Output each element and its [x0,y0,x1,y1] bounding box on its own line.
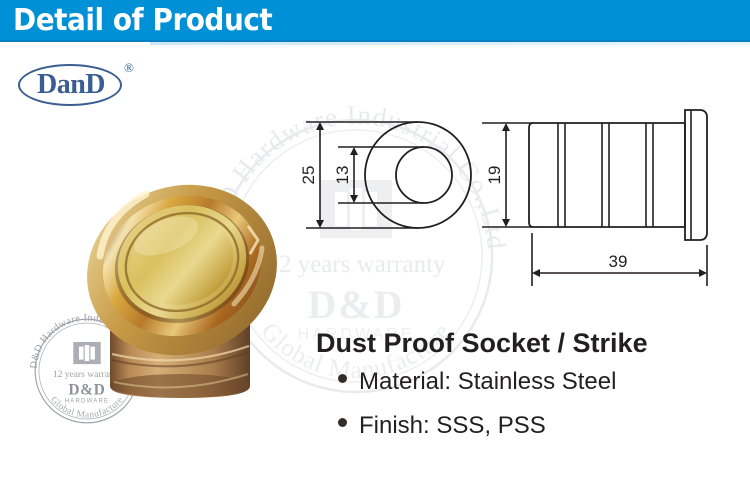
watermark-emblem-icon [320,180,392,238]
specification-list: Material: Stainless Steel Finish: SSS, P… [316,360,750,448]
svg-text:Global Manufacture: Global Manufacture [48,395,126,420]
watermark-small-warranty-text: 12 years warranty [53,370,121,380]
product-detail-page: Detail of Product DanD ® D&D Hardware In… [0,0,750,496]
dimension-label-height: 19 [485,166,504,185]
brand-logo: DanD ® [12,52,152,110]
watermark-brand-text: D&D [307,282,404,327]
page-title: Detail of Product [13,4,272,38]
dimension-label-length: 39 [609,252,628,271]
svg-text:D&D Hardware Industrial Co.,Lt: D&D Hardware Industrial Co.,Ltd [200,100,512,251]
registered-trademark-icon: ® [124,60,134,76]
spec-item-material: Material: Stainless Steel [316,360,750,404]
watermark-small-emblem-icon [73,342,100,364]
dimension-label-inner-diameter: 13 [333,166,352,185]
watermark-stamp-small: D&D Hardware Industrial Co.,Ltd Global M… [26,310,148,432]
watermark-arc-top: D&D Hardware Industrial Co.,Ltd [200,100,512,251]
watermark-small-arc-top: D&D Hardware Industrial Co.,Ltd [29,313,146,370]
technical-drawing: 25 13 19 39 [300,100,750,290]
product-photo [62,128,312,398]
spec-item-material-label: Material: Stainless Steel [359,360,616,404]
dimension-label-outer-diameter: 25 [300,166,318,185]
spec-item-finish-label: Finish: SSS, PSS [359,404,546,448]
bullet-icon [338,418,347,427]
product-body [110,278,250,398]
product-name: Dust Proof Socket / Strike [316,326,750,360]
watermark-small-arc-bottom: Global Manufacture [48,395,126,420]
side-view [482,110,707,286]
front-view [306,122,471,228]
svg-text:D&D Hardware Industrial Co.,Lt: D&D Hardware Industrial Co.,Ltd [29,313,146,370]
specification-block: Dust Proof Socket / Strike Material: Sta… [316,326,750,448]
watermark-warranty-text: 12 years warranty [266,251,446,278]
bullet-icon [338,374,347,383]
watermark-small-brand-sub-text: HARDWARE [65,398,109,405]
watermark-small-brand-text: D&D [68,382,105,399]
header-underline [0,42,750,45]
product-flange [65,160,300,379]
logo-brand-text: DanD [28,69,114,101]
spec-item-finish: Finish: SSS, PSS [316,404,750,448]
